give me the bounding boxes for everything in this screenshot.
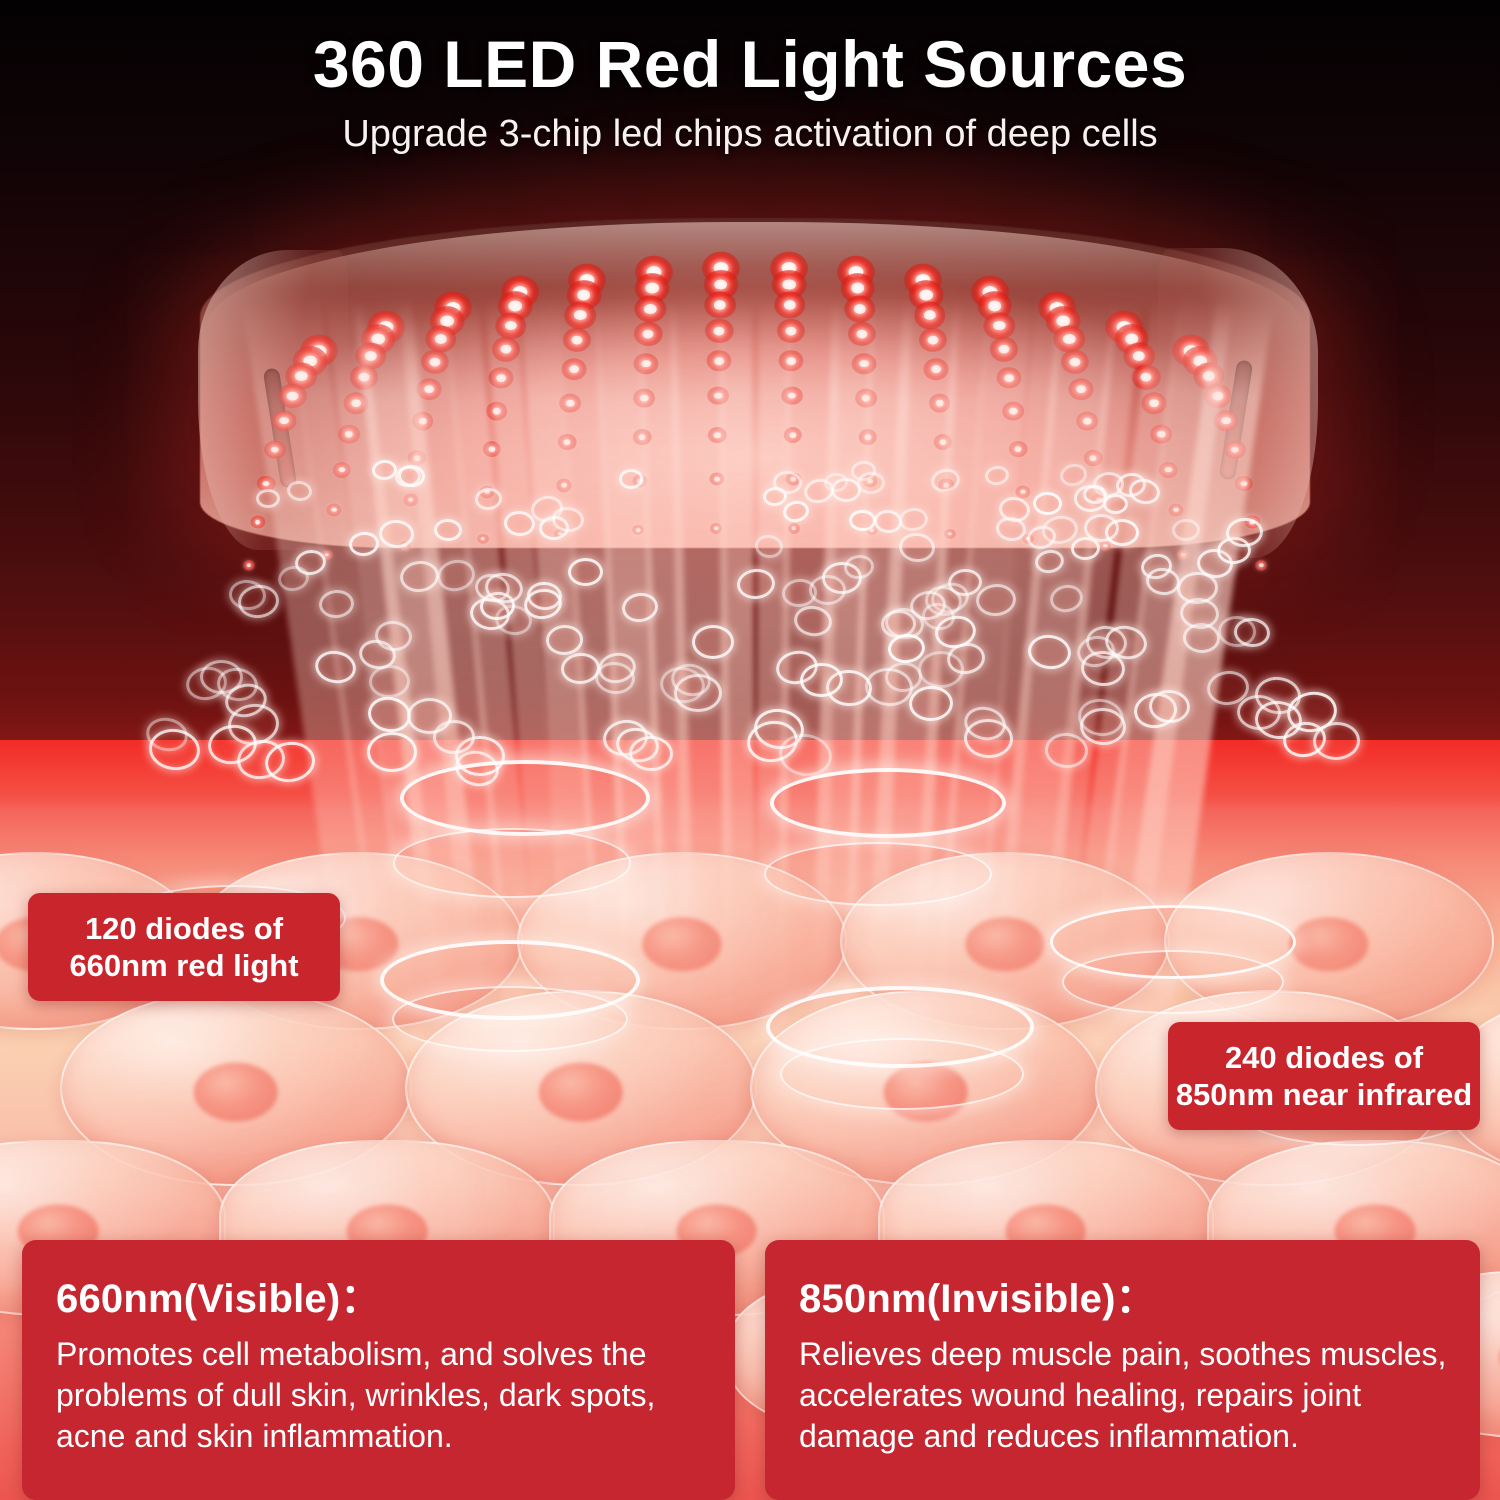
info-panel-visible-body: Promotes cell metabolism, and solves the… bbox=[56, 1334, 705, 1457]
energy-ring bbox=[770, 768, 1006, 838]
energy-ring bbox=[393, 828, 631, 898]
page-subtitle: Upgrade 3-chip led chips activation of d… bbox=[0, 113, 1500, 156]
badge-850nm-line1: 240 diodes of bbox=[1168, 1039, 1480, 1076]
badge-660nm: 120 diodes of 660nm red light bbox=[28, 893, 340, 1001]
info-panel-invisible-body: Relieves deep muscle pain, soothes muscl… bbox=[799, 1334, 1450, 1457]
energy-ring bbox=[400, 760, 650, 836]
energy-ring bbox=[392, 986, 628, 1052]
badge-850nm-line2: 850nm near infrared bbox=[1168, 1076, 1480, 1113]
infographic-root: 360 LED Red Light Sources Upgrade 3-chip… bbox=[0, 0, 1500, 1500]
info-panel-invisible: 850nm(Invisible)： Relieves deep muscle p… bbox=[765, 1240, 1480, 1500]
info-panel-invisible-heading: 850nm(Invisible)： bbox=[799, 1266, 1450, 1324]
energy-ring bbox=[1062, 950, 1284, 1014]
badge-850nm: 240 diodes of 850nm near infrared bbox=[1168, 1022, 1480, 1130]
badge-660nm-line1: 120 diodes of bbox=[28, 910, 340, 947]
energy-ring bbox=[764, 842, 992, 906]
header: 360 LED Red Light Sources Upgrade 3-chip… bbox=[0, 30, 1500, 156]
page-title: 360 LED Red Light Sources bbox=[0, 30, 1500, 99]
info-panel-visible: 660nm(Visible)： Promotes cell metabolism… bbox=[22, 1240, 735, 1500]
energy-ring bbox=[780, 1038, 1024, 1110]
badge-660nm-line2: 660nm red light bbox=[28, 947, 340, 984]
info-panel-visible-heading: 660nm(Visible)： bbox=[56, 1266, 705, 1324]
